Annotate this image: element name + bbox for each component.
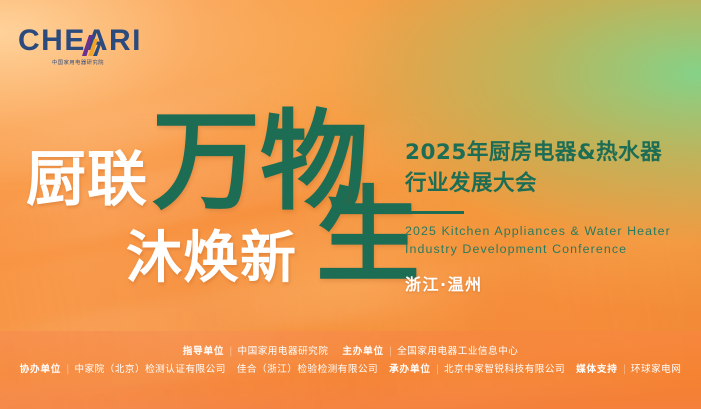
headline-chulian: 厨联 <box>26 150 148 210</box>
organizer-rows: 指导单位 | 中国家用电器研究院 主办单位 | 全国家用电器工业信息中心 协办单… <box>0 331 701 379</box>
organizer-value: 北京中家智锐科技有限公司 <box>444 361 565 379</box>
main-headline: 厨联 万物 沐焕新 生 <box>26 112 406 302</box>
organizer-value: 环球家电网 <box>631 361 681 379</box>
organizer-label: 指导单位 <box>183 343 225 361</box>
conference-banner: CHEARI 中国家用电器研究院 厨联 万物 沐焕新 生 2025年厨房电器&热… <box>0 0 701 409</box>
organizer-value: 全国家用电器工业信息中心 <box>397 343 518 361</box>
organizer-footer: 指导单位 | 中国家用电器研究院 主办单位 | 全国家用电器工业信息中心 协办单… <box>0 331 701 409</box>
event-location: 浙江·温州 <box>405 271 690 295</box>
event-title-en-line1: 2025 Kitchen Appliances & Water Heater <box>405 223 690 241</box>
organizer-row-1: 指导单位 | 中国家用电器研究院 主办单位 | 全国家用电器工业信息中心 <box>0 343 701 361</box>
cheari-logo: CHEARI 中国家用电器研究院 <box>18 26 150 66</box>
organizer-group: 指导单位 | 中国家用电器研究院 <box>183 343 329 361</box>
organizer-label: 主办单位 <box>342 343 384 361</box>
organizer-group: 协办单位 | 中家院（北京）检测认证有限公司 <box>20 361 226 379</box>
organizer-separator: | <box>623 361 626 379</box>
organizer-separator: | <box>389 343 392 361</box>
organizer-row-2: 协办单位 | 中家院（北京）检测认证有限公司 佳合（浙江）检验检测有限公司 承办… <box>0 361 701 379</box>
organizer-separator: | <box>229 343 232 361</box>
event-title-block: 2025年厨房电器&热水器 行业发展大会 2025 Kitchen Applia… <box>405 138 690 295</box>
headline-muhuanxin: 沐焕新 <box>126 230 297 286</box>
organizer-value-secondary: 佳合（浙江）检验检测有限公司 <box>237 361 378 379</box>
organizer-group: 主办单位 | 全国家用电器工业信息中心 <box>342 343 518 361</box>
organizer-label: 承办单位 <box>389 361 431 379</box>
logo-subtitle: 中国家用电器研究院 <box>52 59 150 66</box>
event-title-en-line2: Industry Development Conference <box>405 241 690 259</box>
organizer-value: 中国家用电器研究院 <box>238 343 329 361</box>
organizer-value: 中家院（北京）检测认证有限公司 <box>74 361 225 379</box>
organizer-group: 媒体支持 | 环球家电网 <box>576 361 681 379</box>
organizer-separator: | <box>436 361 439 379</box>
title-divider <box>406 211 464 214</box>
event-title-cn-line1: 2025年厨房电器&热水器 <box>405 138 690 169</box>
organizer-label: 协办单位 <box>20 361 62 379</box>
organizer-group: 承办单位 | 北京中家智锐科技有限公司 <box>389 361 565 379</box>
event-title-cn-line2: 行业发展大会 <box>405 169 690 200</box>
organizer-label: 媒体支持 <box>576 361 618 379</box>
organizer-separator: | <box>66 361 69 379</box>
logo-mark-icon <box>80 32 102 58</box>
